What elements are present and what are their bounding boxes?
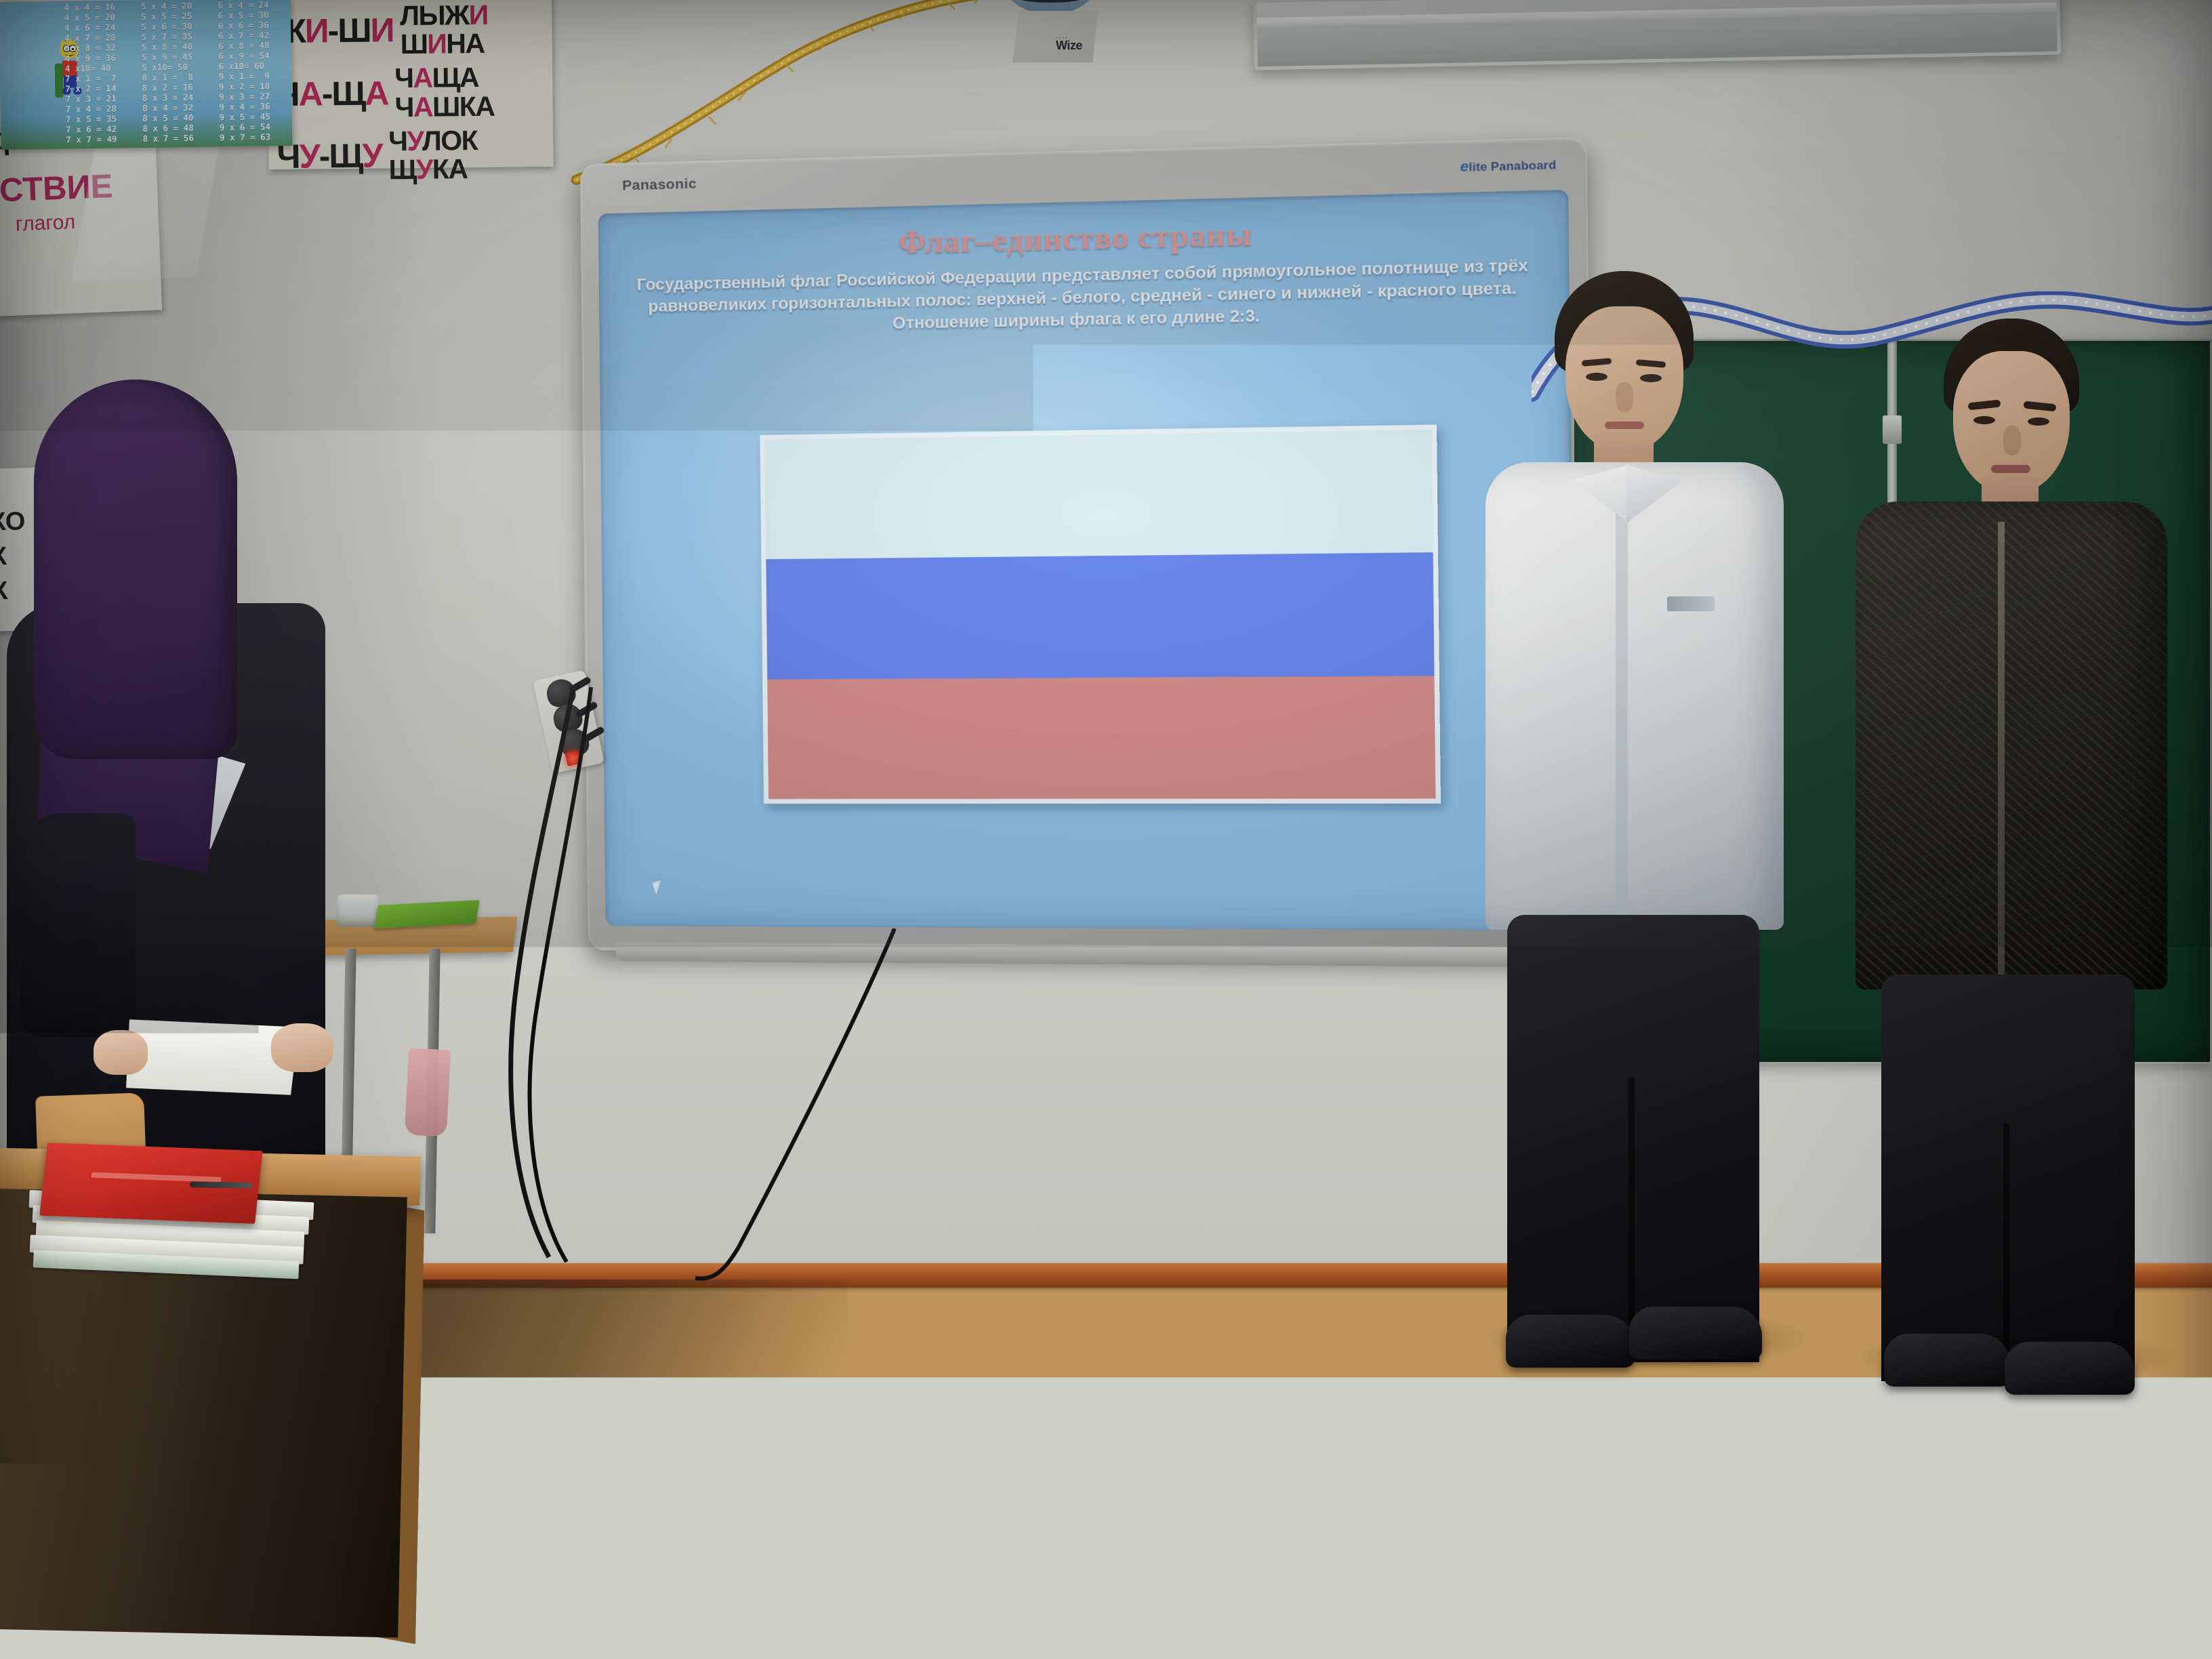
shoe: [1506, 1315, 1635, 1368]
shoe: [1629, 1307, 1762, 1359]
wall-vignette: [0, 0, 2212, 1288]
classroom-scene: что делать? что сделать? ЙСТВИЕ глагол К…: [0, 0, 2212, 1659]
shoe: [1884, 1334, 2010, 1387]
shoe: [2005, 1342, 2135, 1395]
